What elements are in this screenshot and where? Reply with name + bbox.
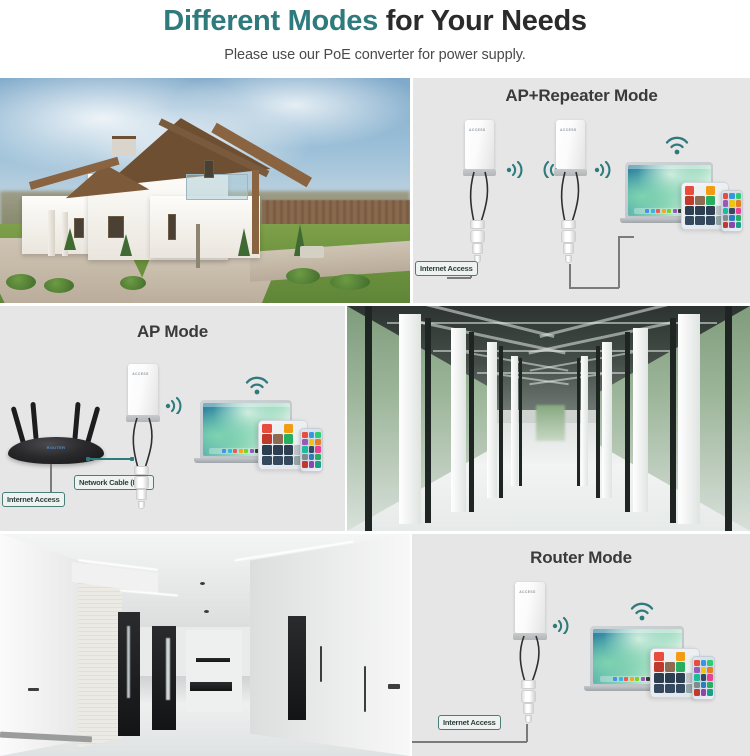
pillar-l1 — [399, 314, 421, 524]
poe-connector-1 — [470, 220, 485, 263]
header: Different Modes for Your Needs Please us… — [0, 0, 750, 78]
lan-lead-to-devices — [618, 236, 620, 288]
bush-3 — [120, 276, 146, 290]
internet-access-tag-3: Internet Access — [438, 715, 501, 730]
tablet-icon-grid-3 — [654, 652, 695, 693]
window-2 — [168, 214, 176, 240]
page-subtitle: Please use our PoE converter for power s… — [0, 47, 750, 63]
mullion-r2 — [670, 318, 676, 523]
glass-corridor-panel — [347, 306, 750, 531]
tree-sapling — [196, 224, 200, 268]
phone-device-2 — [300, 428, 323, 472]
wall-switch-left — [28, 688, 39, 691]
cabinet-handle-2 — [364, 666, 366, 712]
pillar-l2 — [451, 328, 466, 512]
row-3: Router Mode ACCESS Internet Access — [0, 534, 750, 756]
ap-logo-3: ACCESS — [132, 372, 149, 376]
far-room-wall — [186, 630, 242, 712]
internet-access-tag-2: Internet Access — [2, 492, 65, 507]
row-1: AP+Repeater Mode ACCESS Internet Access — [0, 78, 750, 303]
chimney — [112, 136, 136, 156]
wifi-router-device: ROUTER — [8, 402, 104, 464]
mullion-l3 — [469, 332, 474, 512]
router-antenna-3 — [72, 402, 80, 440]
ap-logo-1: ACCESS — [469, 128, 486, 132]
internet-lead-3b — [412, 741, 527, 743]
bush-4 — [286, 268, 320, 284]
ethernet-cable-run — [90, 458, 132, 460]
infographic-page: Different Modes for Your Needs Please us… — [0, 0, 750, 750]
poe-connector-3 — [134, 466, 149, 509]
router-antenna-2 — [30, 402, 38, 440]
pillar-r1 — [678, 314, 700, 524]
wifi-broadcast-icon-2 — [243, 374, 271, 396]
ap-cable-2 — [556, 172, 590, 224]
stone-bench — [300, 246, 324, 258]
mullion-r1 — [725, 306, 732, 531]
window-upper — [204, 160, 214, 178]
house-photo-panel — [0, 78, 410, 303]
poe-connector-2 — [561, 220, 576, 263]
device-cluster-3 — [590, 626, 722, 702]
phone-icon-grid-1 — [723, 193, 740, 227]
laptop-menubar-1 — [628, 165, 711, 169]
access-point-device-4: ACCESS — [515, 582, 545, 634]
textured-wall-panel — [78, 572, 122, 748]
mullion-l4 — [499, 346, 503, 498]
door-glass-strip-2 — [166, 638, 170, 700]
wifi-signal-icon-4 — [164, 396, 190, 414]
far-console — [190, 682, 232, 691]
router-mode-panel: Router Mode ACCESS Internet Access — [412, 534, 750, 756]
downlight-1 — [200, 582, 205, 585]
porch-column-1 — [48, 210, 55, 256]
timber-post — [252, 170, 259, 254]
bush-2 — [44, 278, 74, 293]
internet-lead-3 — [526, 724, 528, 742]
conifer-1 — [120, 234, 132, 256]
router-logo: ROUTER — [47, 445, 66, 450]
device-cluster-1 — [625, 162, 745, 234]
page-title: Different Modes for Your Needs — [0, 4, 750, 38]
cabinet-handle-1 — [320, 646, 322, 682]
page-title-accent: Different Modes — [163, 5, 378, 37]
mullion-r4 — [596, 346, 600, 498]
interior-hallway-photo — [0, 534, 410, 756]
pillar-l3 — [487, 342, 497, 498]
access-point-device-1: ACCESS — [465, 120, 494, 170]
phone-icon-grid-2 — [302, 432, 320, 468]
pillar-r3 — [602, 342, 612, 498]
hallway-wall-right — [250, 534, 410, 756]
lan-lead-device-top — [618, 236, 634, 238]
far-shelf — [196, 658, 230, 662]
cabinet-recess-right — [288, 616, 306, 720]
wifi-broadcast-icon-1 — [663, 134, 691, 156]
access-point-device-2: ACCESS — [556, 120, 585, 170]
ap-cable-4 — [515, 636, 551, 684]
wifi-signal-icon-3 — [593, 160, 619, 178]
pillar-r4 — [581, 356, 588, 486]
interior-hallway-panel — [0, 534, 410, 756]
ap-mode-panel: AP Mode ROUTER Network Cable (PoE) Inter… — [0, 306, 345, 531]
door-left-2 — [152, 626, 176, 730]
ap-mode-title: AP Mode — [0, 322, 345, 342]
conifer-2 — [238, 228, 250, 256]
ap-repeater-panel: AP+Repeater Mode ACCESS Internet Access — [413, 78, 750, 303]
pillar-r2 — [633, 328, 648, 512]
ap-cable-1 — [465, 172, 499, 224]
router-mode-title: Router Mode — [412, 548, 750, 568]
ceiling-cross-1 — [387, 322, 717, 324]
bush-1 — [6, 274, 36, 290]
vanishing-point-foliage — [536, 405, 564, 441]
laptop-menubar-2 — [203, 403, 290, 407]
ap-repeater-title: AP+Repeater Mode — [413, 86, 750, 106]
wifi-broadcast-icon-3 — [628, 600, 656, 622]
internet-lead-1b — [447, 277, 471, 279]
poe-connector-4 — [521, 680, 536, 723]
bush-5 — [330, 274, 370, 290]
mullion-l5 — [519, 358, 522, 486]
mullion-l2 — [425, 318, 431, 523]
tablet-icon-grid-2 — [262, 424, 303, 465]
mullion-r5 — [577, 358, 580, 486]
downlight-2 — [204, 610, 209, 613]
phone-icon-grid-3 — [694, 660, 712, 696]
lan-lead-vertical — [569, 264, 571, 288]
glass-corridor-photo — [347, 306, 750, 531]
door-glass-strip-1 — [127, 626, 130, 698]
page-title-rest: for Your Needs — [378, 5, 587, 37]
ap-cable-3 — [128, 418, 164, 470]
exterior-house-photo — [0, 78, 410, 303]
cabinet-handle-3 — [388, 684, 400, 689]
mullion-l1 — [365, 306, 372, 531]
internet-access-tag-1: Internet Access — [415, 261, 478, 276]
phone-device-1 — [721, 190, 743, 232]
mullion-r3 — [625, 332, 630, 512]
lan-lead-horizontal — [569, 287, 619, 289]
ap-logo-2: ACCESS — [560, 128, 577, 132]
balcony-glass — [186, 174, 248, 200]
row-2: AP Mode ROUTER Network Cable (PoE) Inter… — [0, 306, 750, 531]
wifi-signal-icon-5 — [551, 616, 577, 634]
wifi-signal-icon-1 — [505, 160, 531, 178]
access-point-device-3: ACCESS — [128, 364, 158, 416]
pillar-l4 — [511, 356, 518, 486]
tablet-icon-grid-1 — [685, 186, 725, 226]
phone-device-3 — [692, 656, 715, 700]
device-cluster-2 — [200, 400, 330, 474]
conifer-4 — [64, 228, 76, 250]
ap-logo-4: ACCESS — [519, 590, 536, 594]
laptop-menubar-3 — [593, 629, 682, 633]
